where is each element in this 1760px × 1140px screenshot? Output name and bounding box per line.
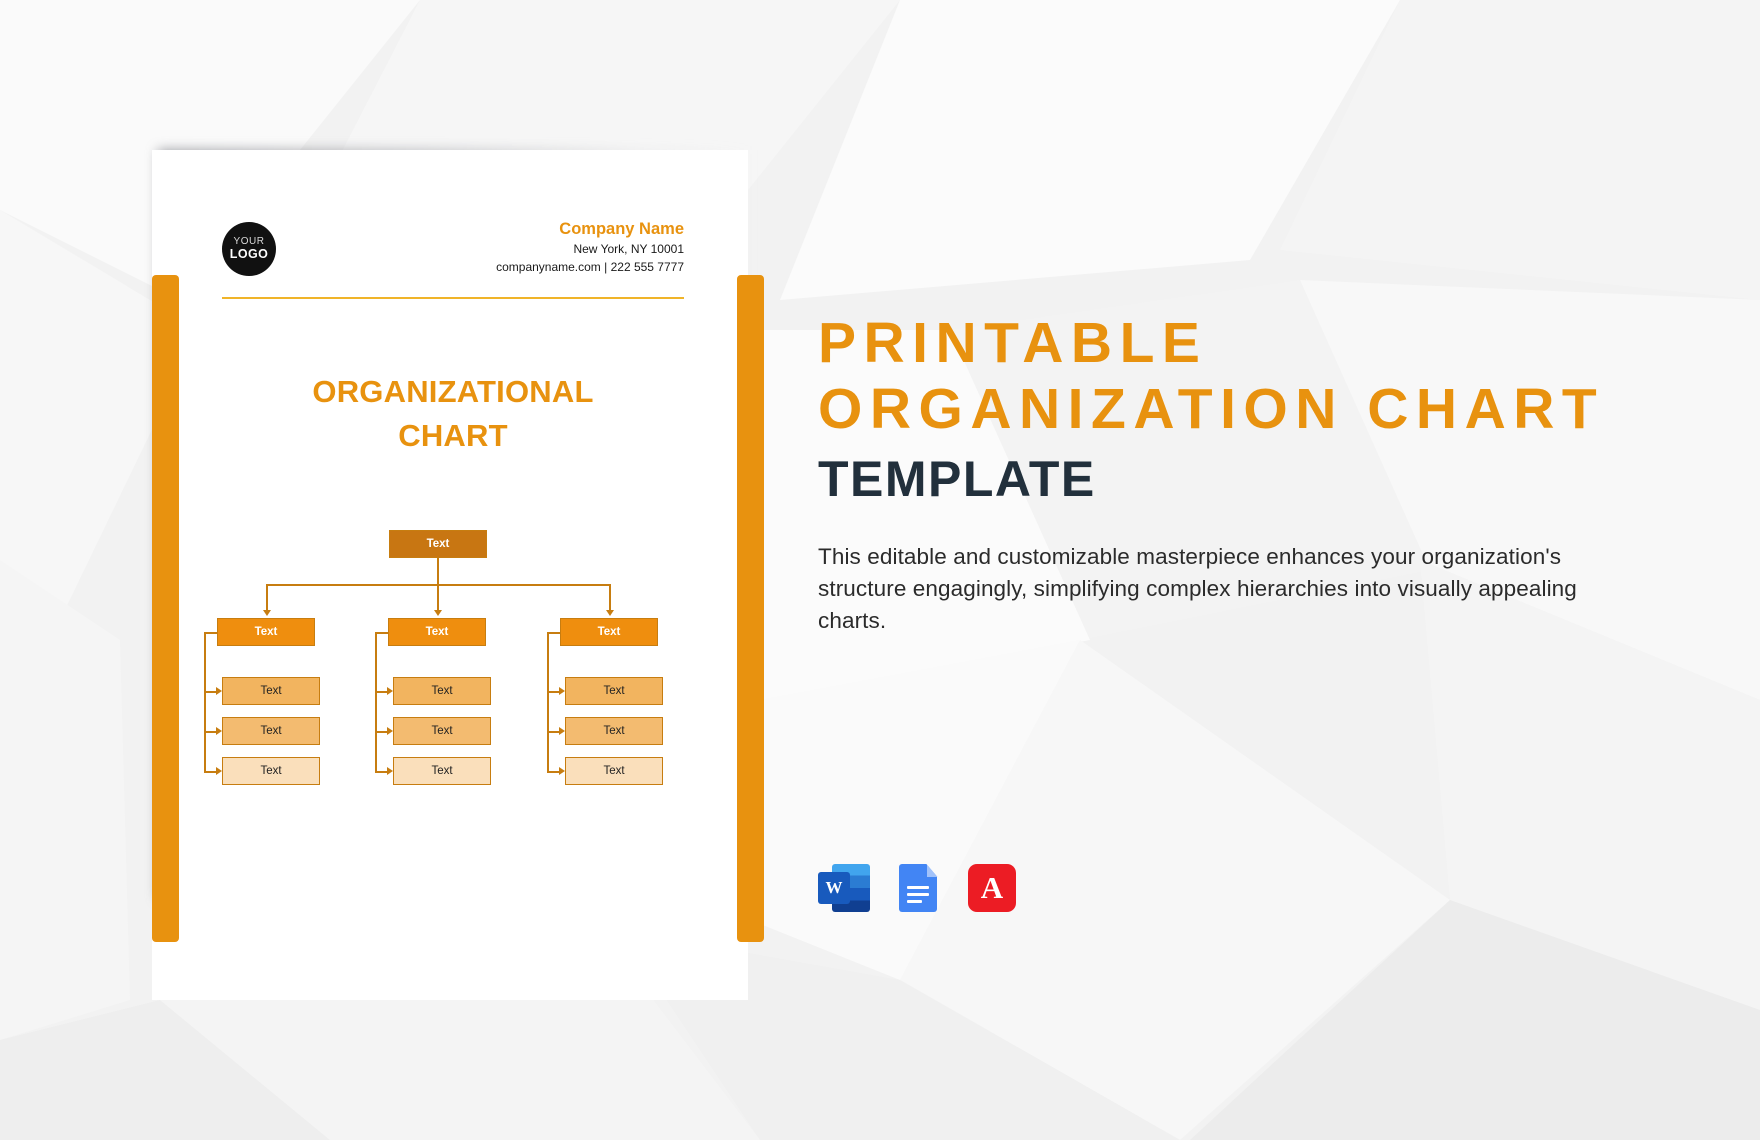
letterhead-divider bbox=[222, 297, 684, 299]
connector-spine-top-2 bbox=[375, 632, 389, 634]
pdf-icon-plate: A bbox=[968, 864, 1016, 912]
promo-headline: Printable Organization Chart bbox=[818, 310, 1618, 442]
org-node-child-3-2[interactable]: Text bbox=[565, 717, 663, 745]
org-node-branch-1[interactable]: Text bbox=[217, 618, 315, 646]
org-chart: Text Text Text Text Text Text bbox=[222, 530, 684, 810]
document-title-line-1: ORGANIZATIONAL bbox=[222, 370, 684, 414]
connector-child-2-1 bbox=[375, 691, 387, 693]
accent-bar-right bbox=[737, 275, 764, 942]
connector-root-trunk bbox=[437, 558, 439, 584]
document-title: ORGANIZATIONAL CHART bbox=[222, 370, 684, 458]
connector-child-3-3 bbox=[547, 771, 559, 773]
connector-spine-1-lower bbox=[204, 691, 206, 771]
connector-spine-2-lower bbox=[375, 691, 377, 771]
pdf-icon[interactable]: A bbox=[966, 862, 1018, 914]
connector-spine-top-1 bbox=[204, 632, 218, 634]
org-node-root[interactable]: Text bbox=[389, 530, 487, 558]
word-icon-letter: W bbox=[818, 872, 850, 904]
company-name: Company Name bbox=[496, 218, 684, 240]
connector-child-1-1 bbox=[204, 691, 216, 693]
word-icon[interactable]: W bbox=[818, 862, 870, 914]
promo-banner: YOUR LOGO Company Name New York, NY 1000… bbox=[0, 0, 1760, 1140]
format-icon-list: W A bbox=[818, 862, 1018, 914]
connector-child-3-1 bbox=[547, 691, 559, 693]
org-node-branch-3[interactable]: Text bbox=[560, 618, 658, 646]
promo-text-panel: Printable Organization Chart Template Th… bbox=[818, 310, 1618, 637]
document-title-line-2: CHART bbox=[222, 414, 684, 458]
connector-drop-2 bbox=[437, 584, 439, 612]
org-node-child-3-3[interactable]: Text bbox=[565, 757, 663, 785]
company-info: Company Name New York, NY 10001 companyn… bbox=[496, 218, 684, 276]
google-docs-icon[interactable] bbox=[892, 862, 944, 914]
connector-child-1-3 bbox=[204, 771, 216, 773]
org-node-child-1-2[interactable]: Text bbox=[222, 717, 320, 745]
logo-badge: YOUR LOGO bbox=[222, 222, 276, 276]
org-node-child-1-1[interactable]: Text bbox=[222, 677, 320, 705]
org-node-child-2-3[interactable]: Text bbox=[393, 757, 491, 785]
org-node-child-1-3[interactable]: Text bbox=[222, 757, 320, 785]
connector-drop-3 bbox=[609, 584, 611, 612]
org-node-branch-2[interactable]: Text bbox=[388, 618, 486, 646]
docs-icon-line-2 bbox=[907, 893, 929, 896]
promo-subheadline: Template bbox=[818, 452, 1618, 507]
company-address: New York, NY 10001 bbox=[496, 240, 684, 258]
logo-line-2: LOGO bbox=[230, 248, 268, 261]
accent-bar-left bbox=[152, 275, 179, 942]
connector-spine-3-lower bbox=[547, 691, 549, 771]
promo-description: This editable and customizable masterpie… bbox=[818, 541, 1618, 637]
arrow-down-3 bbox=[606, 610, 614, 616]
pdf-icon-glyph: A bbox=[981, 872, 1003, 903]
letterhead: YOUR LOGO Company Name New York, NY 1000… bbox=[222, 218, 684, 296]
docs-icon-line-3 bbox=[907, 900, 922, 903]
connector-child-2-2 bbox=[375, 731, 387, 733]
org-node-child-2-2[interactable]: Text bbox=[393, 717, 491, 745]
docs-icon-line-1 bbox=[907, 886, 929, 889]
arrow-down-1 bbox=[263, 610, 271, 616]
docs-icon-fold bbox=[927, 864, 938, 877]
connector-child-3-2 bbox=[547, 731, 559, 733]
connector-drop-1 bbox=[266, 584, 268, 612]
org-node-child-2-1[interactable]: Text bbox=[393, 677, 491, 705]
org-node-child-3-1[interactable]: Text bbox=[565, 677, 663, 705]
connector-spine-top-3 bbox=[547, 632, 561, 634]
company-contact: companyname.com | 222 555 7777 bbox=[496, 258, 684, 276]
connector-child-2-3 bbox=[375, 771, 387, 773]
arrow-down-2 bbox=[434, 610, 442, 616]
connector-child-1-2 bbox=[204, 731, 216, 733]
